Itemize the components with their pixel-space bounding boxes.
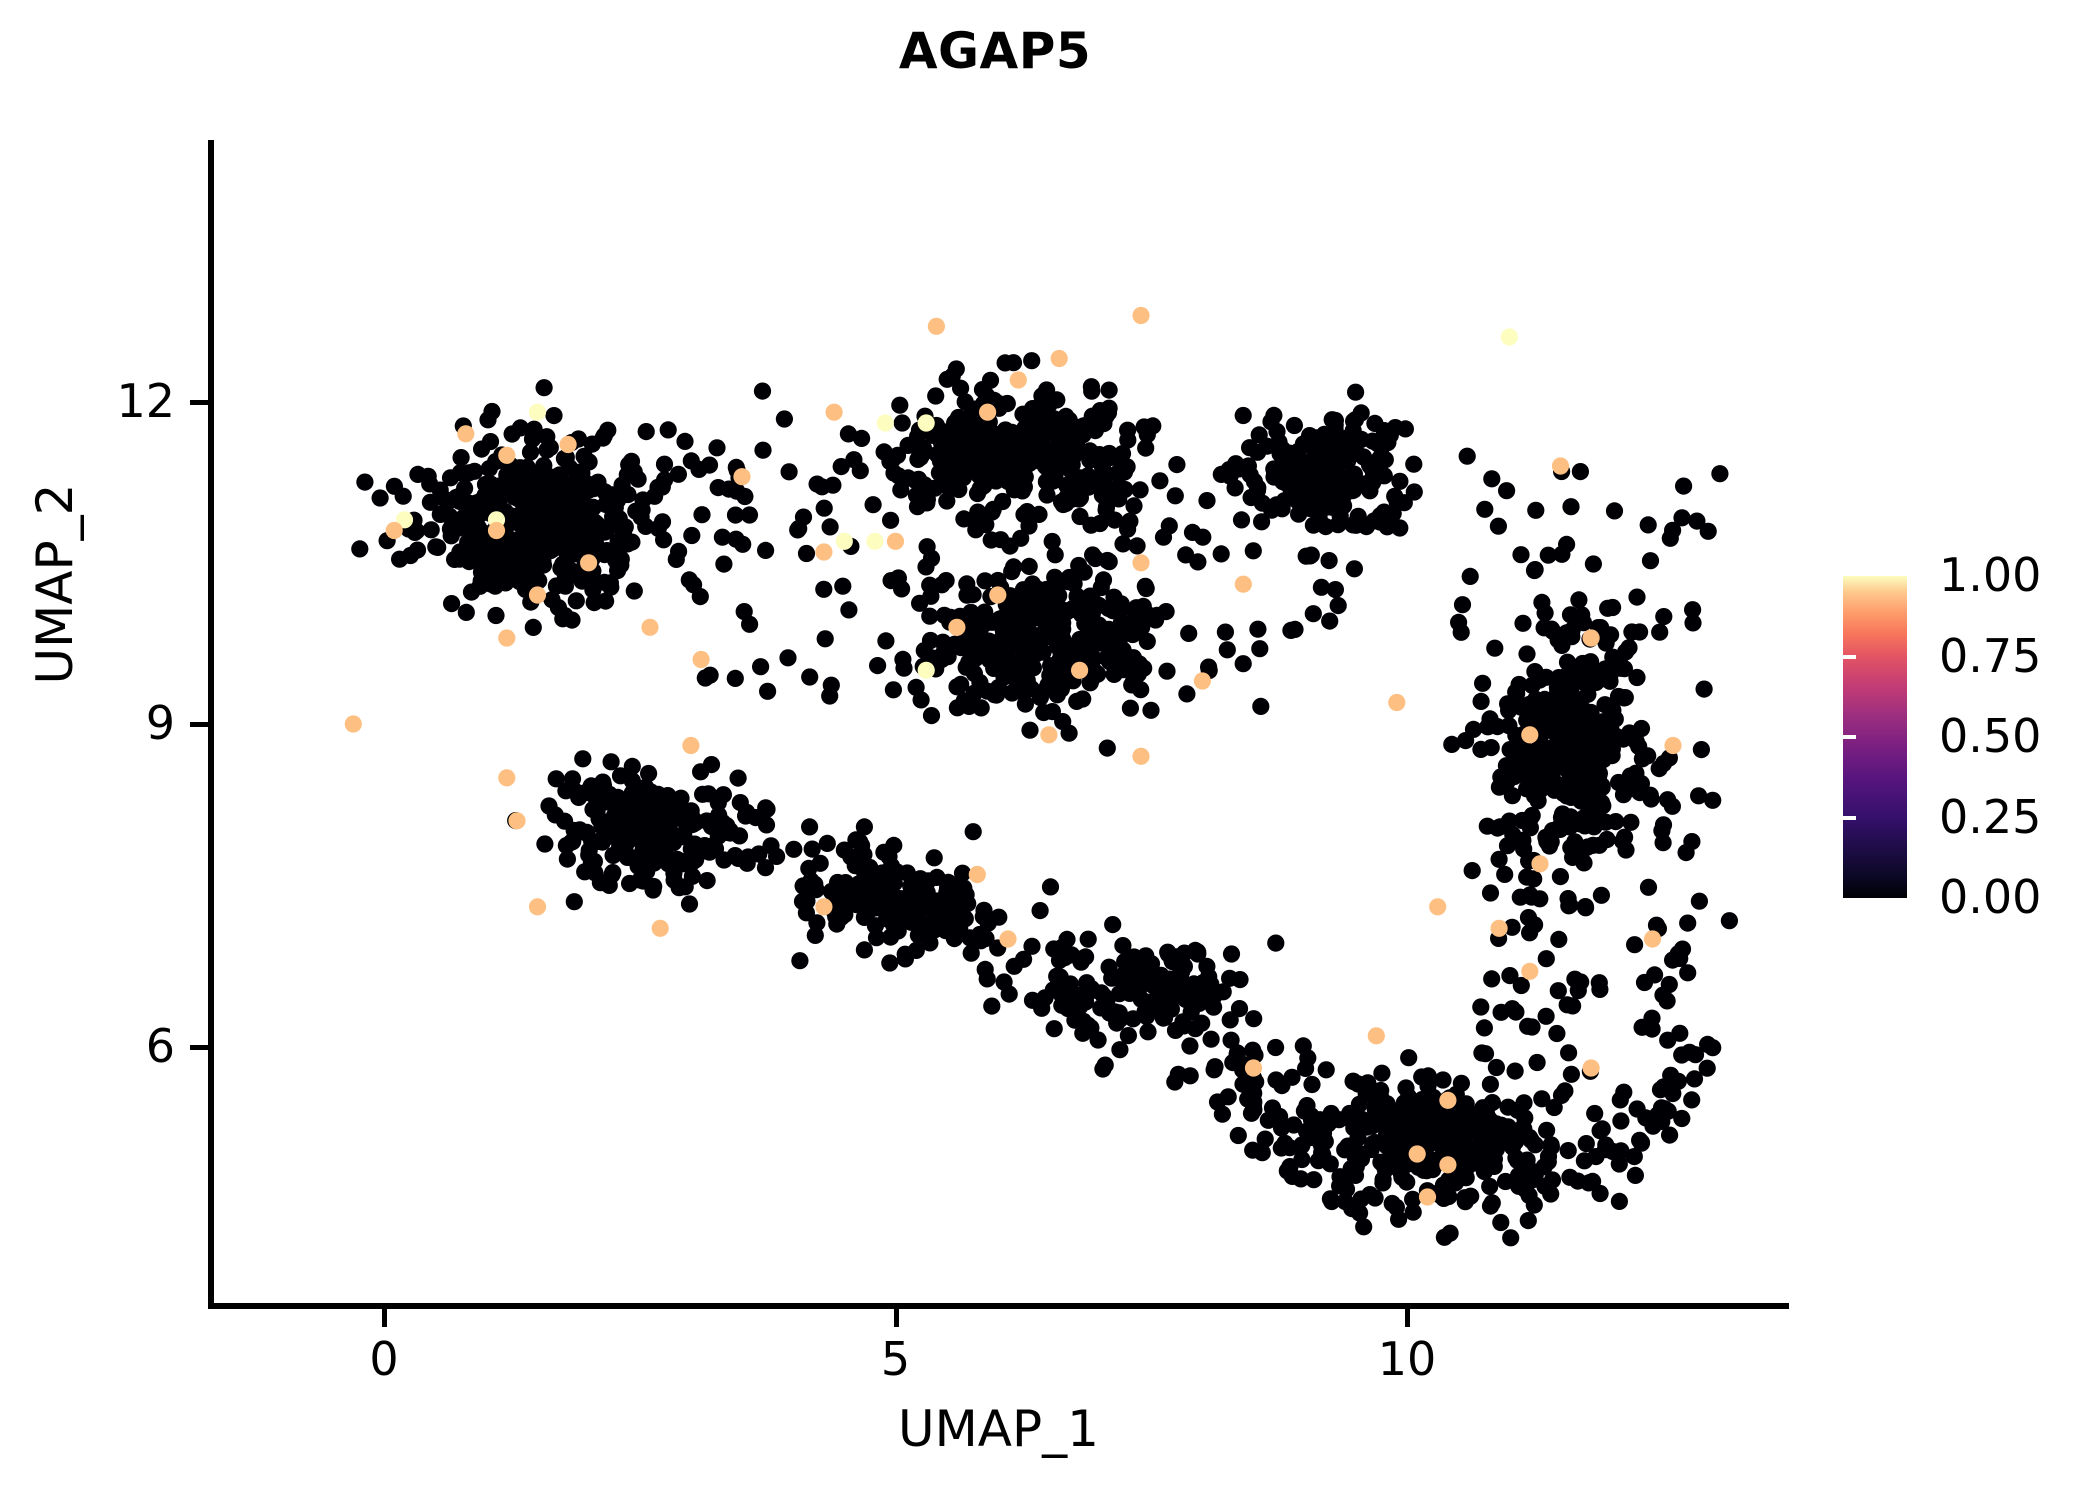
scatter-point [1474, 675, 1491, 692]
scatter-point [1565, 783, 1582, 800]
scatter-point [1273, 1118, 1290, 1135]
scatter-point [1318, 1061, 1335, 1078]
scatter-point [1439, 1156, 1456, 1173]
scatter-plot-area [0, 0, 2100, 1500]
scatter-point [1655, 1078, 1672, 1095]
y-axis-label: UMAP_2 [26, 384, 84, 784]
scatter-point [1572, 815, 1589, 832]
scatter-point [668, 551, 685, 568]
scatter-point [622, 831, 639, 848]
x-tick-mark [382, 1309, 387, 1327]
scatter-point [1181, 1037, 1198, 1054]
scatter-point [979, 404, 996, 421]
colorbar-tick-mark [1843, 655, 1856, 659]
scatter-point [652, 920, 669, 937]
scatter-point [1151, 472, 1168, 489]
scatter-point [1442, 1225, 1459, 1242]
scatter-point [887, 533, 904, 550]
scatter-point [580, 554, 597, 571]
scatter-point [1291, 451, 1308, 468]
scatter-point [1508, 685, 1525, 702]
scatter-point [691, 838, 708, 855]
scatter-point [1662, 530, 1679, 547]
scatter-point [759, 683, 776, 700]
scatter-point [1251, 426, 1268, 443]
scatter-point [640, 765, 657, 782]
scatter-point [626, 582, 643, 599]
scatter-point [1492, 1214, 1509, 1231]
scatter-point [1586, 1105, 1603, 1122]
scatter-point [909, 498, 926, 515]
colorbar-tick-mark [1843, 816, 1856, 820]
scatter-point [1108, 1015, 1125, 1032]
scatter-point [1622, 814, 1639, 831]
scatter-point [1674, 941, 1691, 958]
scatter-point [1313, 1144, 1330, 1161]
scatter-point [1661, 1127, 1678, 1144]
scatter-point [1132, 554, 1149, 571]
scatter-point [1021, 722, 1038, 739]
scatter-point [1491, 920, 1508, 937]
scatter-point [580, 570, 597, 587]
scatter-point [1331, 1111, 1348, 1128]
scatter-point [560, 436, 577, 453]
scatter-point [785, 841, 802, 858]
scatter-point [1249, 621, 1266, 638]
y-tick-mark [190, 1045, 208, 1050]
scatter-point [1094, 1060, 1111, 1077]
scatter-point [891, 397, 908, 414]
scatter-point [512, 419, 529, 436]
scatter-point [1629, 1100, 1646, 1117]
y-tick-mark [190, 722, 208, 727]
scatter-point [1664, 798, 1681, 815]
scatter-point [754, 383, 771, 400]
scatter-point [804, 841, 821, 858]
scatter-point [641, 619, 658, 636]
scatter-point [1400, 1049, 1417, 1066]
scatter-point [455, 509, 472, 526]
x-axis-line [208, 1303, 1789, 1309]
scatter-point [813, 478, 830, 495]
scatter-point [1483, 970, 1500, 987]
scatter-point [836, 533, 853, 550]
scatter-point [938, 492, 955, 509]
scatter-point [529, 586, 546, 603]
scatter-point [1531, 855, 1548, 872]
scatter-point [1501, 328, 1518, 345]
scatter-point [1058, 477, 1075, 494]
scatter-point [1405, 456, 1422, 473]
scatter-point [1617, 841, 1634, 858]
scatter-point [840, 601, 857, 618]
scatter-point [603, 753, 620, 770]
scatter-point [536, 835, 553, 852]
scatter-point [1054, 621, 1071, 638]
scatter-point [1521, 1161, 1538, 1178]
scatter-point [386, 478, 403, 495]
scatter-point [1606, 502, 1623, 519]
scatter-point [655, 531, 672, 548]
scatter-point [1429, 898, 1446, 915]
scatter-point [868, 929, 885, 946]
scatter-point [1049, 686, 1066, 703]
scatter-point [1464, 862, 1481, 879]
scatter-point [977, 961, 994, 978]
scatter-point [1338, 1181, 1355, 1198]
scatter-point [1574, 762, 1591, 779]
scatter-point [1473, 693, 1490, 710]
scatter-point [1066, 1012, 1083, 1029]
scatter-point [1000, 439, 1017, 456]
scatter-point [801, 668, 818, 685]
scatter-point [511, 565, 528, 582]
scatter-point [1483, 470, 1500, 487]
scatter-point [1368, 1027, 1385, 1044]
scatter-point [1679, 915, 1696, 932]
scatter-point [848, 896, 865, 913]
scatter-point [1600, 723, 1617, 740]
scatter-point [1550, 931, 1567, 948]
scatter-point [877, 632, 894, 649]
scatter-point [871, 878, 888, 895]
scatter-point [1607, 813, 1624, 830]
scatter-point [1570, 591, 1587, 608]
scatter-point [967, 521, 984, 538]
scatter-point [529, 404, 546, 421]
scatter-point [1552, 457, 1569, 474]
scatter-point [1015, 581, 1032, 598]
scatter-point [1673, 1110, 1690, 1127]
scatter-point [1245, 1010, 1262, 1027]
scatter-point [893, 580, 910, 597]
scatter-point [1343, 1200, 1360, 1217]
scatter-point [1137, 578, 1154, 595]
scatter-point [1321, 552, 1338, 569]
scatter-point [1599, 600, 1616, 617]
scatter-point [894, 414, 911, 431]
scatter-point [1116, 463, 1133, 480]
scatter-point [948, 619, 965, 636]
scatter-point [574, 750, 591, 767]
scatter-point [498, 447, 515, 464]
scatter-point [1543, 833, 1560, 850]
scatter-point [1323, 1193, 1340, 1210]
scatter-point [758, 816, 775, 833]
scatter-point [1593, 777, 1610, 794]
scatter-point [881, 453, 898, 470]
scatter-point [1388, 493, 1405, 510]
scatter-point [1267, 1039, 1284, 1056]
scatter-point [1320, 494, 1337, 511]
scatter-point [556, 607, 573, 624]
scatter-point [1021, 558, 1038, 575]
scatter-point [948, 360, 965, 377]
scatter-point [1245, 542, 1262, 559]
scatter-point [953, 435, 970, 452]
scatter-point [1138, 1008, 1155, 1025]
scatter-point [516, 539, 533, 556]
scatter-point [1339, 452, 1356, 469]
scatter-point [1114, 535, 1131, 552]
scatter-point [1230, 1127, 1247, 1144]
scatter-point [1167, 487, 1184, 504]
scatter-point [817, 630, 834, 647]
scatter-point [1655, 755, 1672, 772]
scatter-point [1081, 609, 1098, 626]
scatter-point [957, 910, 974, 927]
scatter-point [628, 849, 645, 866]
scatter-point [1583, 1059, 1600, 1076]
scatter-point [1538, 950, 1555, 967]
scatter-point [853, 837, 870, 854]
scatter-point [1061, 725, 1078, 742]
scatter-point [815, 543, 832, 560]
scatter-point [482, 433, 499, 450]
scatter-point [1453, 1075, 1470, 1092]
scatter-point [1298, 1097, 1315, 1114]
scatter-point [391, 551, 408, 568]
scatter-point [1527, 502, 1544, 519]
scatter-point [423, 521, 440, 538]
scatter-point [356, 474, 373, 491]
scatter-point [1610, 774, 1627, 791]
scatter-point [934, 423, 951, 440]
scatter-point [1100, 404, 1117, 421]
scatter-point [969, 866, 986, 883]
scatter-point [671, 808, 688, 825]
scatter-point [727, 670, 744, 687]
scatter-point [525, 619, 542, 636]
scatter-point [1493, 1004, 1510, 1021]
scatter-point [708, 439, 725, 456]
scatter-point [1132, 481, 1149, 498]
scatter-point [935, 645, 952, 662]
scatter-point [1283, 486, 1300, 503]
scatter-point [881, 954, 898, 971]
scatter-point [1598, 831, 1615, 848]
scatter-point [1623, 623, 1640, 640]
scatter-point [1599, 667, 1616, 684]
scatter-point [545, 407, 562, 424]
scatter-point [1533, 1090, 1550, 1107]
scatter-point [1671, 1025, 1688, 1042]
scatter-point [736, 603, 753, 620]
scatter-point [1564, 997, 1581, 1014]
scatter-point [1512, 546, 1529, 563]
scatter-point [1273, 1139, 1290, 1156]
scatter-point [939, 460, 956, 477]
scatter-point [1015, 638, 1032, 655]
scatter-point [1163, 1001, 1180, 1018]
scatter-point [1696, 681, 1713, 698]
scatter-point [996, 614, 1013, 631]
scatter-point [1356, 1114, 1373, 1131]
scatter-point [1125, 649, 1142, 666]
scatter-point [1476, 501, 1493, 518]
scatter-point [736, 488, 753, 505]
scatter-point [453, 449, 470, 466]
scatter-point [913, 691, 930, 708]
scatter-point [1507, 1004, 1524, 1021]
scatter-point [1012, 530, 1029, 547]
scatter-point [1481, 1178, 1498, 1195]
scatter-point [1372, 1088, 1389, 1105]
scatter-point [1397, 1115, 1414, 1132]
scatter-point [593, 794, 610, 811]
scatter-point [1142, 702, 1159, 719]
scatter-point [1704, 1039, 1721, 1056]
scatter-point [1010, 371, 1027, 388]
scatter-point [1219, 641, 1236, 658]
scatter-point [1125, 497, 1142, 514]
scatter-point [1163, 951, 1180, 968]
scatter-point [1585, 555, 1602, 572]
scatter-point [1591, 981, 1608, 998]
scatter-point [1699, 1060, 1716, 1077]
scatter-point [1628, 669, 1645, 686]
y-tick-mark [190, 400, 208, 405]
scatter-point [483, 403, 500, 420]
scatter-point [1527, 691, 1544, 708]
scatter-point [1098, 498, 1115, 515]
scatter-point [1167, 1022, 1184, 1039]
scatter-point [693, 651, 710, 668]
scatter-point [933, 576, 950, 593]
scatter-point [1481, 710, 1498, 727]
scatter-point [980, 915, 997, 932]
scatter-point [1006, 958, 1023, 975]
scatter-point [1047, 546, 1064, 563]
y-axis-line [208, 140, 214, 1309]
scatter-point [1267, 935, 1284, 952]
scatter-point [1584, 1173, 1601, 1190]
scatter-point [1628, 733, 1645, 750]
scatter-point [681, 895, 698, 912]
scatter-point [1209, 1093, 1226, 1110]
scatter-point [733, 468, 750, 485]
y-tick-label: 6 [0, 1023, 175, 1069]
scatter-point [1339, 1138, 1356, 1155]
scatter-point [757, 799, 774, 816]
scatter-point [806, 876, 823, 893]
scatter-point [1465, 721, 1482, 738]
scatter-point [1286, 417, 1303, 434]
scatter-point [1295, 1037, 1312, 1054]
scatter-point [965, 823, 982, 840]
scatter-point [453, 493, 470, 510]
scatter-point [1651, 624, 1668, 641]
scatter-point [1507, 1149, 1524, 1166]
scatter-point [536, 379, 553, 396]
scatter-point [1397, 420, 1414, 437]
scatter-point [1119, 432, 1136, 449]
scatter-point [1653, 1099, 1670, 1116]
figure-canvas: AGAP5 1296 0510 UMAP_1 UMAP_2 1.000.750.… [0, 0, 2100, 1500]
scatter-point [967, 650, 984, 667]
scatter-point [1158, 603, 1175, 620]
scatter-point [1074, 426, 1091, 443]
scatter-point [654, 513, 671, 530]
scatter-point [676, 433, 693, 450]
scatter-point [1024, 450, 1041, 467]
scatter-point [538, 475, 555, 492]
scatter-point [1531, 671, 1548, 688]
scatter-point [508, 812, 525, 829]
scatter-point [1347, 384, 1364, 401]
scatter-point [1562, 498, 1579, 515]
scatter-point [586, 514, 603, 531]
scatter-point [963, 945, 980, 962]
scatter-point [1583, 629, 1600, 646]
scatter-point [1132, 748, 1149, 765]
scatter-point [1194, 672, 1211, 689]
scatter-point [1673, 1046, 1690, 1063]
scatter-point [458, 604, 475, 621]
x-axis-label: UMAP_1 [208, 1400, 1789, 1458]
scatter-point [798, 545, 815, 562]
scatter-point [948, 678, 965, 695]
scatter-point [556, 813, 573, 830]
scatter-point [1527, 561, 1544, 578]
scatter-point [584, 436, 601, 453]
scatter-point [555, 492, 572, 509]
x-tick-mark [1405, 1309, 1410, 1327]
scatter-point [498, 769, 515, 786]
scatter-point [1486, 640, 1503, 657]
scatter-point [586, 853, 603, 870]
scatter-point [1515, 1094, 1532, 1111]
scatter-point [1080, 931, 1097, 948]
scatter-point [1502, 1229, 1519, 1246]
scatter-point [607, 552, 624, 569]
scatter-point [1092, 999, 1109, 1016]
scatter-point [1099, 552, 1116, 569]
scatter-point [1563, 628, 1580, 645]
scatter-point [1387, 1145, 1404, 1162]
scatter-point [1447, 1110, 1464, 1127]
scatter-point [1038, 395, 1055, 412]
scatter-point [1678, 844, 1695, 861]
scatter-point [386, 522, 403, 539]
scatter-point [1523, 1018, 1540, 1035]
scatter-point [570, 789, 587, 806]
colorbar-tick-label: 0.75 [1939, 633, 2041, 679]
scatter-point [885, 837, 902, 854]
scatter-point [1419, 1188, 1436, 1205]
scatter-point [1544, 771, 1561, 788]
scatter-point [1548, 1025, 1565, 1042]
scatter-point [488, 522, 505, 539]
scatter-point [1040, 726, 1057, 743]
scatter-point [894, 651, 911, 668]
scatter-point [540, 797, 557, 814]
scatter-point [834, 578, 851, 595]
scatter-point [869, 657, 886, 674]
scatter-point [1120, 621, 1137, 638]
scatter-point [1279, 1162, 1296, 1179]
scatter-point [1293, 1151, 1310, 1168]
scatter-point [912, 870, 929, 887]
scatter-point [558, 837, 575, 854]
scatter-point [1500, 1099, 1517, 1116]
scatter-point [1476, 1019, 1493, 1036]
scatter-point [1540, 547, 1557, 564]
scatter-point [1384, 1195, 1401, 1212]
scatter-point [442, 520, 459, 537]
scatter-point [1533, 594, 1550, 611]
scatter-point [1415, 1162, 1432, 1179]
